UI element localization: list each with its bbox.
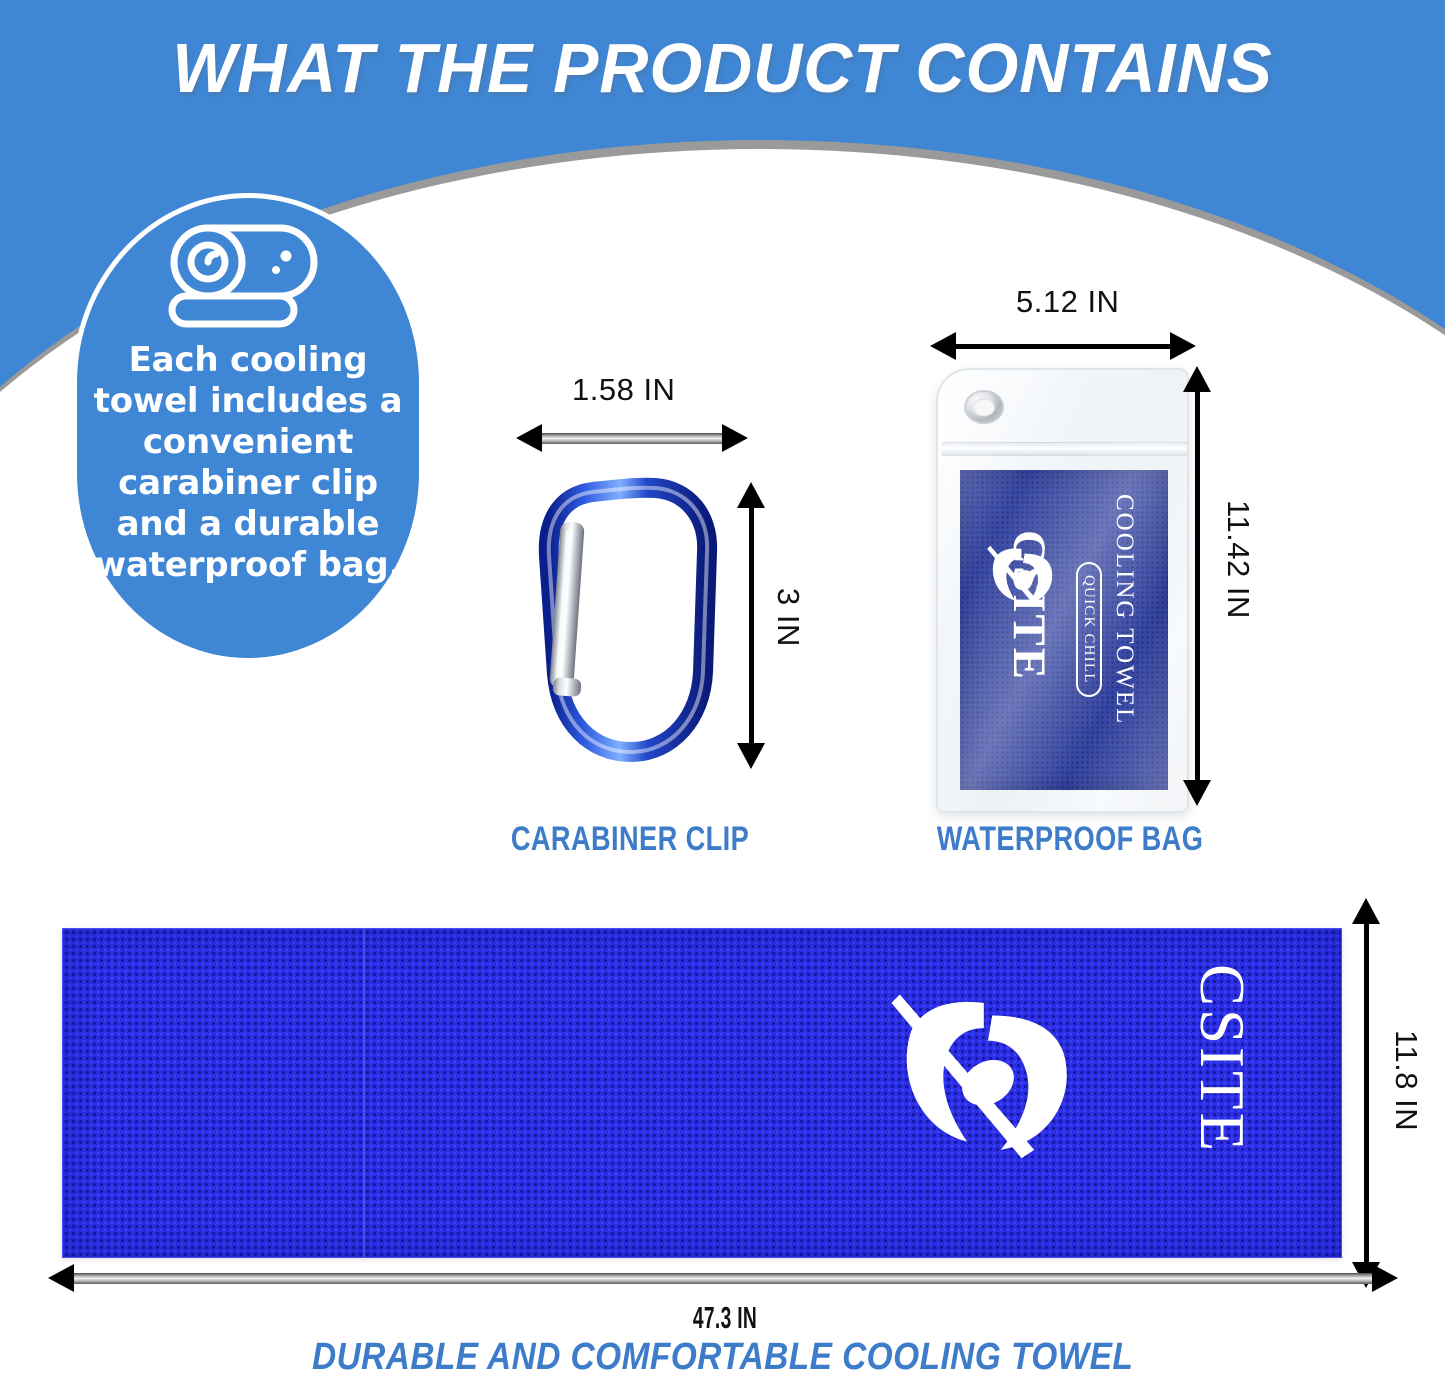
bag-towel-brand: CSITE [1002, 530, 1056, 681]
arrow-head-left [930, 332, 956, 360]
arrow-bar [1195, 392, 1200, 780]
towel-width-label: 47.3 IN [651, 1300, 800, 1336]
arrow-bar [542, 433, 722, 444]
towel-width-arrow [48, 1264, 1398, 1292]
arrow-head-left [48, 1264, 74, 1292]
towel-brand-text: CSITE [1185, 964, 1258, 1154]
bag-width-label: 5.12 IN [1016, 284, 1119, 320]
rolled-towel-icon [164, 220, 332, 332]
arrow-bar [749, 508, 754, 743]
page-title: WHAT THE PRODUCT CONTAINS [22, 28, 1424, 108]
bag-zipper [942, 442, 1187, 456]
bottom-caption: DURABLE AND COMFORTABLE COOLING TOWEL [0, 1336, 1445, 1379]
carabiner-caption: CARABINER CLIP [478, 820, 782, 859]
arrow-bar [74, 1273, 1372, 1284]
towel-height-arrow [1352, 898, 1380, 1288]
carabiner-icon [535, 460, 725, 770]
towel-height-label: 11.8 IN [1388, 1030, 1424, 1131]
towel-fold-line [363, 929, 365, 1257]
feature-badge-text: Each cooling towel includes a convenient… [88, 340, 408, 586]
arrow-bar [1364, 924, 1369, 1262]
bag-height-arrow [1183, 366, 1211, 806]
cooling-towel-image: CSITE [62, 928, 1342, 1258]
bag-caption: WATERPROOF BAG [902, 820, 1238, 859]
bag-width-arrow [930, 332, 1196, 360]
waterproof-bag-image: CSITE COOLING TOWEL QUICK CHILL [936, 368, 1189, 813]
carabiner-width-arrow [516, 424, 748, 452]
bag-grommet-hole [973, 398, 995, 416]
arrow-head-top [737, 482, 765, 508]
arrow-head-right [1372, 1264, 1398, 1292]
bottom-caption-label: DURABLE AND COMFORTABLE COOLING TOWEL [312, 1336, 1133, 1379]
arrow-bar [956, 344, 1170, 349]
arrow-head-left [516, 424, 542, 452]
arrow-head-top [1352, 898, 1380, 924]
bag-towel-title: COOLING TOWEL [1110, 494, 1138, 725]
arrow-head-right [1170, 332, 1196, 360]
carabiner-width-label: 1.58 IN [572, 372, 675, 408]
bag-height-label: 11.42 IN [1220, 500, 1256, 619]
arrow-head-bottom [1183, 780, 1211, 806]
arrow-head-top [1183, 366, 1211, 392]
bag-towel-badge-label: QUICK CHILL [1081, 575, 1097, 684]
arrow-head-bottom [737, 743, 765, 769]
csite-logo-icon [883, 971, 1093, 1186]
bag-grommet-icon [964, 390, 1004, 424]
feature-badge: Each cooling towel includes a convenient… [72, 193, 424, 663]
bag-towel-badge: QUICK CHILL [1076, 562, 1102, 697]
carabiner-clip-image [535, 460, 725, 770]
bag-folded-towel: CSITE COOLING TOWEL QUICK CHILL [960, 470, 1168, 790]
arrow-head-right [722, 424, 748, 452]
carabiner-height-label: 3 IN [770, 588, 806, 647]
carabiner-height-arrow [737, 482, 765, 769]
